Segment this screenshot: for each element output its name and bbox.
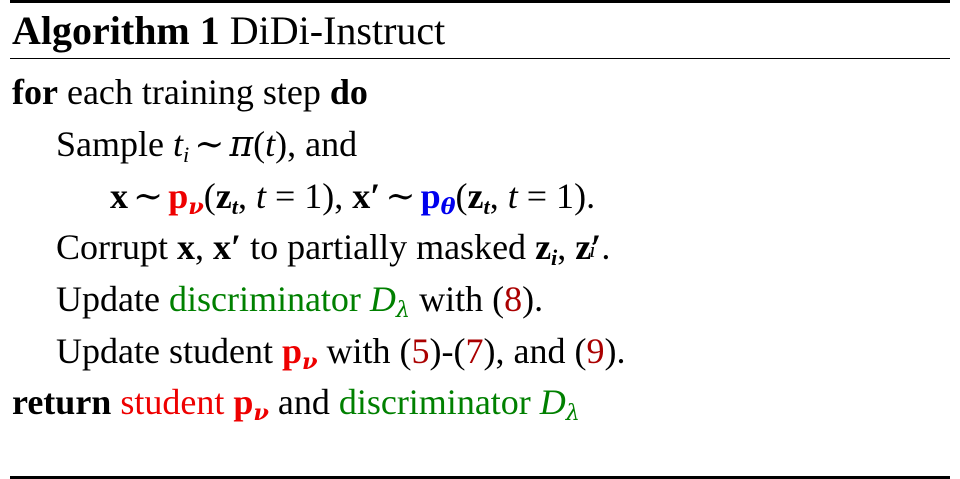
to-partially-masked: to partially masked [241, 227, 535, 267]
paren-close-4: ) [522, 279, 534, 319]
subscript-nu-1: ν [188, 194, 203, 220]
subscript-nu-2: ν [302, 349, 317, 375]
var-z-t-2: zt [468, 176, 490, 216]
for-loop-condition: each training step [58, 72, 330, 112]
algorithm-body: for each training step do Sample ti∼π(t)… [10, 59, 950, 476]
paren-open-2: ( [204, 176, 216, 216]
paren-close-3: ) [574, 176, 586, 216]
paren-open-5: ( [400, 331, 412, 371]
paren-open-6: ( [454, 331, 466, 371]
student-model-p-nu-1: pν [168, 176, 204, 216]
keyword-do: do [330, 72, 368, 112]
var-x-prime-2: x′ [213, 227, 241, 267]
period-4: . [616, 331, 625, 371]
var-x-2: x [177, 227, 195, 267]
period-1: . [586, 176, 595, 216]
student-label-1: student [169, 331, 273, 371]
algorithm-number: Algorithm 1 [12, 8, 220, 53]
discriminator-symbol-1: Dλ [370, 279, 410, 319]
paren-close-7: ) [604, 331, 616, 371]
line-return-statement: return student pν and discriminator Dλ [10, 377, 950, 429]
title-space [220, 8, 230, 53]
x-base-3: x [213, 227, 231, 267]
discriminator-label-1: discriminator [169, 279, 361, 319]
paren-close-1: ) [275, 124, 287, 164]
var-z-prime-i: z′i [575, 222, 601, 274]
update-word-1: Update [56, 279, 169, 319]
var-t-arg: t [265, 124, 275, 164]
var-t-base: t [173, 124, 183, 164]
algorithm-name: DiDi-Instruct [230, 8, 446, 53]
and-word-return: and [269, 382, 339, 422]
equation-ref-8: 8 [504, 279, 522, 319]
subscript-nu-3: ν [253, 400, 268, 426]
symbol-pi: π [229, 124, 253, 165]
paren-close-5: ) [430, 331, 442, 371]
equation-ref-7: 7 [466, 331, 484, 371]
paren-open-3: ( [456, 176, 468, 216]
p-base-2: p [421, 176, 441, 216]
z-base-1: z [216, 176, 232, 216]
range-dash: - [442, 331, 454, 371]
line-corrupt-to-masked: Corrupt x, x′ to partially masked zi, z′… [10, 222, 950, 274]
teacher-model-p-theta: pθ [421, 176, 456, 216]
tilde-operator-2: ∼ [128, 176, 168, 216]
discriminator-symbol-2: Dλ [540, 382, 580, 422]
equation-ref-9: 9 [586, 331, 604, 371]
line-sample-timestep: Sample ti∼π(t), and [10, 119, 950, 171]
line-sample-x-xprime: x∼pν(zt, t = 1), x′∼pθ(zt, t = 1). [10, 171, 950, 223]
var-z-t-1: zt [216, 176, 238, 216]
line-update-student: Update student pν with (5)-(7), and (9). [10, 326, 950, 378]
update-word-2: Update [56, 331, 169, 371]
subscript-lambda-1: λ [396, 297, 410, 323]
period-2: . [601, 227, 610, 267]
z-base-2: z [468, 176, 484, 216]
var-x-1: x [110, 176, 128, 216]
equals-one-1: = 1 [266, 176, 322, 216]
line-update-discriminator: Update discriminator Dλ with (8). [10, 274, 950, 326]
comma-2: , [334, 176, 343, 216]
with-word-2: with [317, 331, 399, 371]
paren-close-2: ) [322, 176, 334, 216]
tilde-operator-3: ∼ [380, 176, 420, 216]
p-base-4: p [233, 382, 253, 422]
student-model-p-nu-3: pν [233, 382, 269, 422]
equation-ref-5: 5 [412, 331, 430, 371]
var-z-i: zi [535, 227, 557, 267]
student-model-p-nu-2: pν [282, 331, 318, 371]
var-t-i: ti [173, 124, 189, 164]
equals-one-2: = 1 [518, 176, 574, 216]
D-base-1: D [370, 279, 396, 319]
z-base-3: z [535, 227, 551, 267]
comma-4: , [195, 227, 204, 267]
keyword-return: return [12, 382, 111, 422]
paren-close-6: ) [484, 331, 496, 371]
period-3: . [534, 279, 543, 319]
sample-word: Sample [56, 124, 173, 164]
line-for-loop-open: for each training step do [10, 67, 950, 119]
and-connector: , and [496, 331, 575, 371]
p-base-1: p [168, 176, 188, 216]
comma-3: , [490, 176, 499, 216]
paren-open-1: ( [253, 124, 265, 164]
paren-open-4: ( [492, 279, 504, 319]
subscript-theta: θ [441, 194, 456, 220]
subscript-lambda-2: λ [566, 400, 580, 426]
and-tail-1: , and [287, 124, 357, 164]
paren-open-7: ( [574, 331, 586, 371]
algorithm-title: Algorithm 1 DiDi-Instruct [10, 3, 950, 58]
keyword-for: for [12, 72, 58, 112]
comma-1: , [238, 176, 247, 216]
prime-mark-2: ′ [231, 227, 241, 267]
student-label-2: student [120, 382, 224, 422]
discriminator-label-2: discriminator [339, 382, 531, 422]
comma-5: , [557, 227, 566, 267]
algorithm-block: Algorithm 1 DiDi-Instruct for each train… [0, 0, 960, 479]
var-t-eq-2: t [508, 176, 518, 216]
var-t-eq-1: t [256, 176, 266, 216]
D-base-2: D [540, 382, 566, 422]
corrupt-word: Corrupt [56, 227, 177, 267]
with-word-1: with [410, 279, 492, 319]
prime-mark-1: ′ [370, 176, 380, 216]
p-base-3: p [282, 331, 302, 371]
x-base-2: x [352, 176, 370, 216]
var-x-prime-1: x′ [352, 176, 380, 216]
tilde-operator-1: ∼ [189, 124, 229, 164]
subscript-i-3: i [589, 234, 595, 266]
